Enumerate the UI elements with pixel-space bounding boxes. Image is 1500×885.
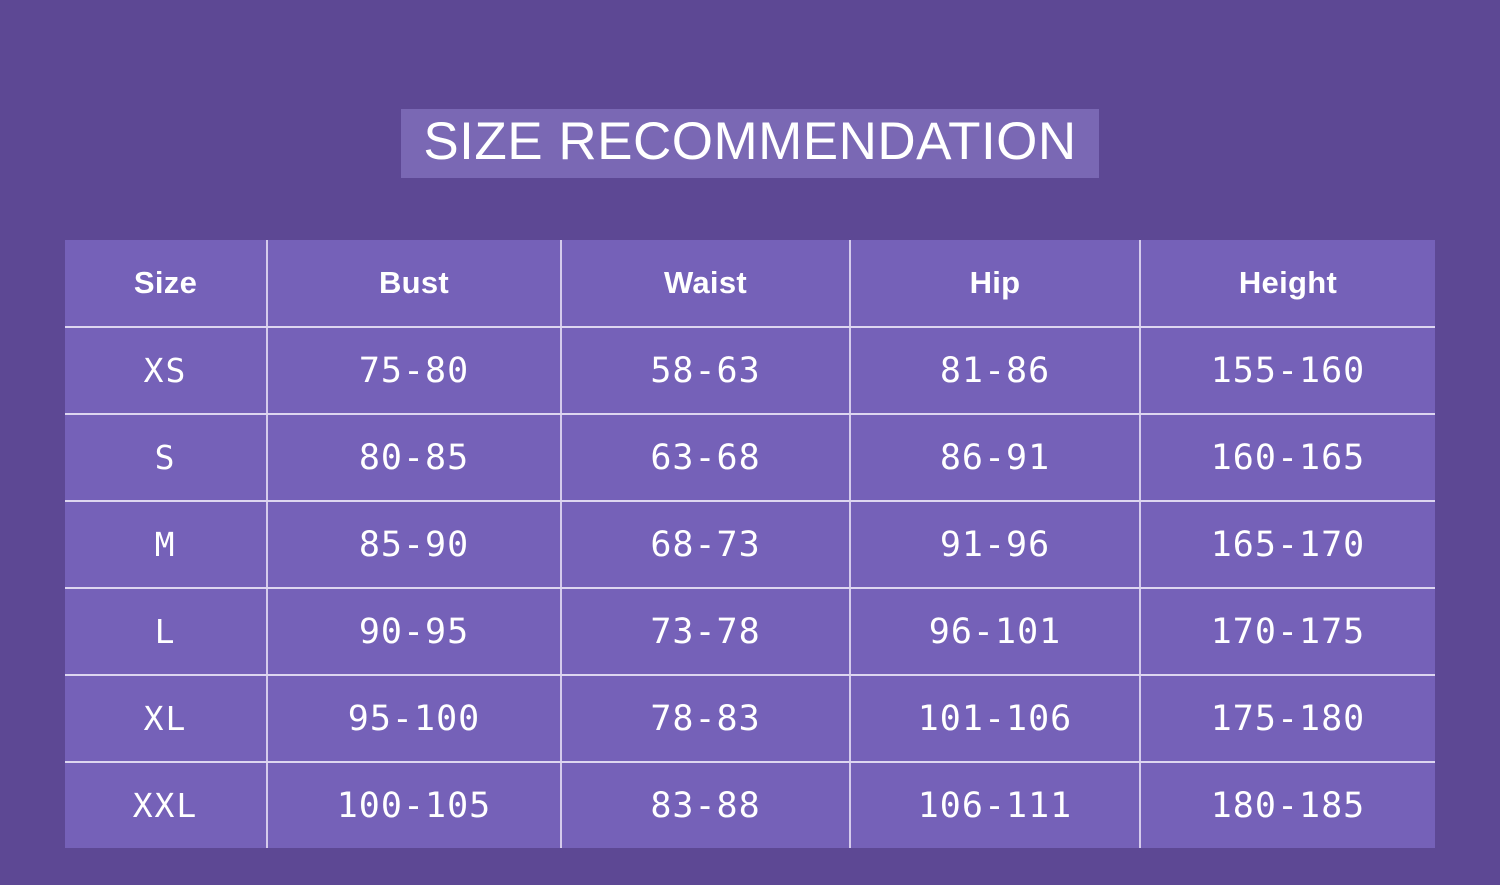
- size-table-container: Size Bust Waist Hip Height XS 75-80 58-6…: [65, 240, 1435, 838]
- cell-height: 165-170: [1140, 501, 1435, 588]
- table-body: XS 75-80 58-63 81-86 155-160 S 80-85 63-…: [65, 327, 1435, 848]
- cell-hip: 91-96: [850, 501, 1140, 588]
- cell-waist: 78-83: [561, 675, 850, 762]
- cell-hip: 96-101: [850, 588, 1140, 675]
- table-row: L 90-95 73-78 96-101 170-175: [65, 588, 1435, 675]
- table-row: XL 95-100 78-83 101-106 175-180: [65, 675, 1435, 762]
- cell-bust: 85-90: [267, 501, 561, 588]
- cell-hip: 81-86: [850, 327, 1140, 414]
- cell-size: L: [65, 588, 267, 675]
- size-table: Size Bust Waist Hip Height XS 75-80 58-6…: [65, 240, 1435, 848]
- cell-size: XS: [65, 327, 267, 414]
- table-row: XS 75-80 58-63 81-86 155-160: [65, 327, 1435, 414]
- cell-hip: 101-106: [850, 675, 1140, 762]
- cell-waist: 68-73: [561, 501, 850, 588]
- column-header-size: Size: [65, 240, 267, 327]
- cell-waist: 58-63: [561, 327, 850, 414]
- title-area: SIZE RECOMMENDATION: [0, 103, 1500, 183]
- cell-bust: 95-100: [267, 675, 561, 762]
- table-header-row: Size Bust Waist Hip Height: [65, 240, 1435, 327]
- cell-size: XXL: [65, 762, 267, 848]
- cell-hip: 86-91: [850, 414, 1140, 501]
- table-row: S 80-85 63-68 86-91 160-165: [65, 414, 1435, 501]
- cell-waist: 83-88: [561, 762, 850, 848]
- cell-hip: 106-111: [850, 762, 1140, 848]
- table-row: XXL 100-105 83-88 106-111 180-185: [65, 762, 1435, 848]
- table-header: Size Bust Waist Hip Height: [65, 240, 1435, 327]
- column-header-hip: Hip: [850, 240, 1140, 327]
- cell-height: 170-175: [1140, 588, 1435, 675]
- size-recommendation-poster: SIZE RECOMMENDATION Size Bust Waist Hip …: [0, 0, 1500, 885]
- cell-size: M: [65, 501, 267, 588]
- page-title: SIZE RECOMMENDATION: [423, 112, 1076, 171]
- cell-bust: 80-85: [267, 414, 561, 501]
- cell-waist: 63-68: [561, 414, 850, 501]
- cell-size: XL: [65, 675, 267, 762]
- cell-size: S: [65, 414, 267, 501]
- cell-height: 180-185: [1140, 762, 1435, 848]
- cell-bust: 90-95: [267, 588, 561, 675]
- cell-bust: 75-80: [267, 327, 561, 414]
- cell-height: 155-160: [1140, 327, 1435, 414]
- column-header-height: Height: [1140, 240, 1435, 327]
- cell-height: 160-165: [1140, 414, 1435, 501]
- column-header-bust: Bust: [267, 240, 561, 327]
- table-row: M 85-90 68-73 91-96 165-170: [65, 501, 1435, 588]
- cell-bust: 100-105: [267, 762, 561, 848]
- title-highlight-band: SIZE RECOMMENDATION: [401, 109, 1098, 178]
- cell-height: 175-180: [1140, 675, 1435, 762]
- cell-waist: 73-78: [561, 588, 850, 675]
- column-header-waist: Waist: [561, 240, 850, 327]
